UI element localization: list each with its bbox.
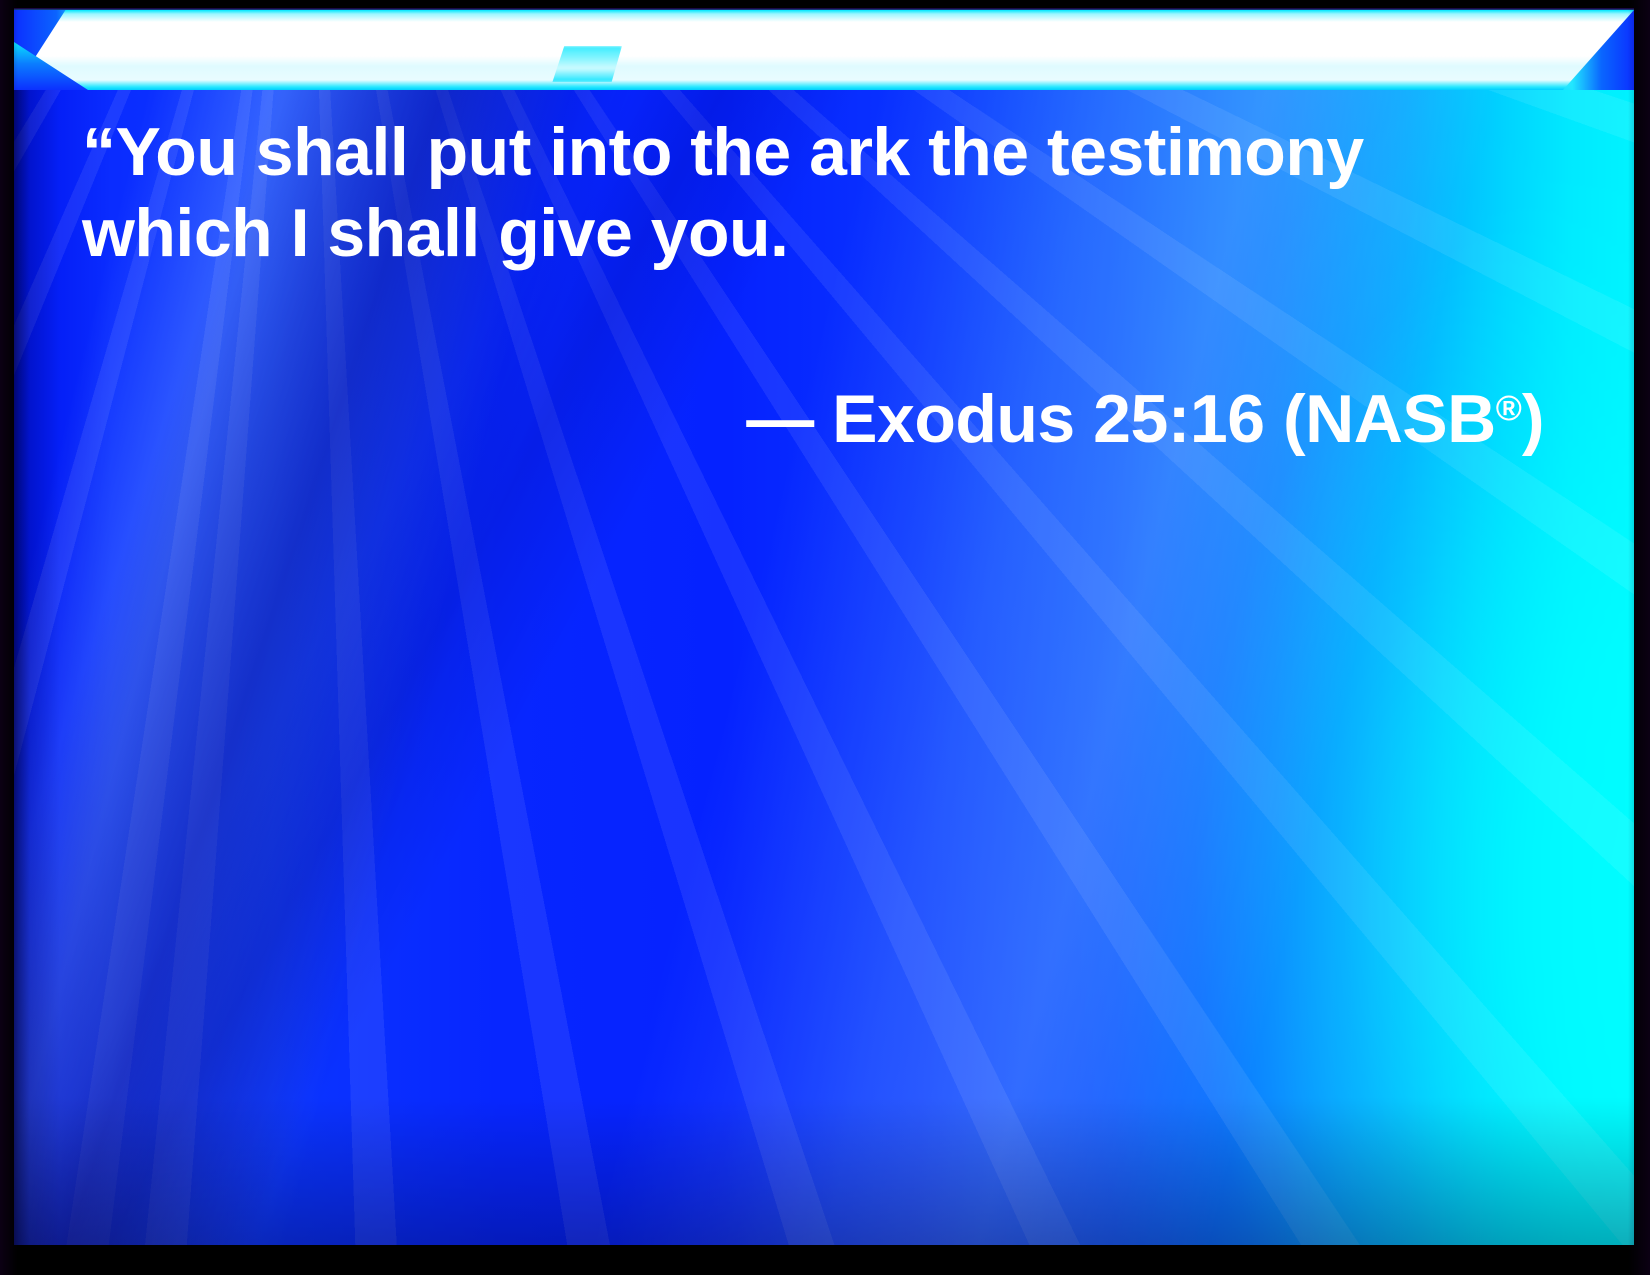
bible-verse-slide: “You shall put into the ark the testimon… xyxy=(0,0,1650,1275)
attribution-close-paren: ) xyxy=(1522,381,1544,457)
verse-attribution: — Exodus 25:16 (NASB®) xyxy=(82,292,1552,536)
verse-line-2: which I shall give you. xyxy=(82,193,1552,274)
attribution-reference: — Exodus 25:16 (NASB xyxy=(746,381,1496,457)
registered-trademark-icon: ® xyxy=(1496,389,1522,428)
top-white-band xyxy=(14,10,1634,90)
verse-line-1: “You shall put into the ark the testimon… xyxy=(82,112,1552,193)
verse-text-block: “You shall put into the ark the testimon… xyxy=(82,112,1552,536)
